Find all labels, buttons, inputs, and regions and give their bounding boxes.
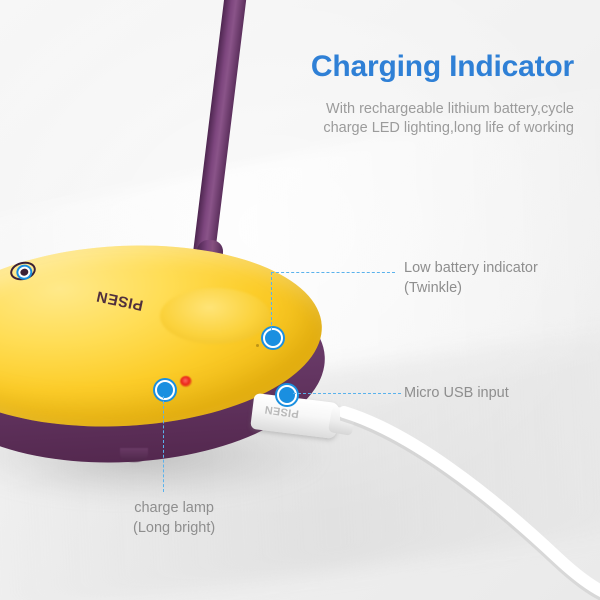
callout-label-micro-usb: Micro USB input	[404, 383, 509, 403]
callout-label-low-battery-line1: Low battery indicator	[404, 258, 538, 278]
lamp-neck-joint	[160, 288, 270, 344]
lamp-pole-lower	[195, 240, 224, 321]
callout-leader-charge-lamp	[163, 396, 164, 492]
page-subtitle: With rechargeable lithium battery,cycle …	[244, 100, 574, 138]
lamp-gooseneck-pole	[188, 0, 247, 295]
callout-leader-low-battery-vertical	[271, 272, 272, 330]
base-brand-logo: PISEN	[95, 287, 145, 314]
lamp-base-foot	[120, 448, 148, 462]
base-drop-shadow	[0, 410, 320, 500]
callout-leader-micro-usb	[293, 393, 401, 394]
callout-label-charge-lamp-line2: (Long bright)	[133, 518, 215, 538]
charge-led-indicator	[180, 376, 192, 387]
callout-label-charge-lamp-line1: charge lamp	[133, 498, 215, 518]
lamp-base-rim	[0, 262, 330, 473]
page-title: Charging Indicator	[311, 50, 574, 84]
callout-leader-low-battery-horizontal	[271, 272, 395, 273]
callout-dot-micro-usb[interactable]	[277, 385, 297, 405]
callout-dot-low-battery[interactable]	[263, 328, 283, 348]
power-button-icon[interactable]	[8, 259, 38, 283]
base-vent-mark	[256, 344, 259, 347]
callout-label-charge-lamp: charge lamp (Long bright)	[133, 498, 215, 538]
background-vignette	[0, 0, 600, 600]
subtitle-line-2: charge LED lighting,long life of working	[244, 119, 574, 138]
callout-dot-charge-lamp[interactable]	[155, 380, 175, 400]
usb-connector-brand: PISEN	[264, 403, 300, 420]
power-icon-dot	[17, 265, 31, 279]
callout-label-low-battery: Low battery indicator (Twinkle)	[404, 258, 538, 298]
usb-cable	[340, 400, 600, 600]
callout-label-micro-usb-line1: Micro USB input	[404, 383, 509, 403]
usb-cable-collar	[328, 406, 356, 436]
subtitle-line-1: With rechargeable lithium battery,cycle	[244, 100, 574, 119]
callout-label-low-battery-line2: (Twinkle)	[404, 278, 538, 298]
lamp-illustration: PISEN PISEN	[0, 0, 600, 600]
product-feature-image: Charging Indicator With rechargeable lit…	[0, 0, 600, 600]
background-band-lower	[0, 314, 600, 600]
power-icon-ring	[8, 259, 38, 283]
